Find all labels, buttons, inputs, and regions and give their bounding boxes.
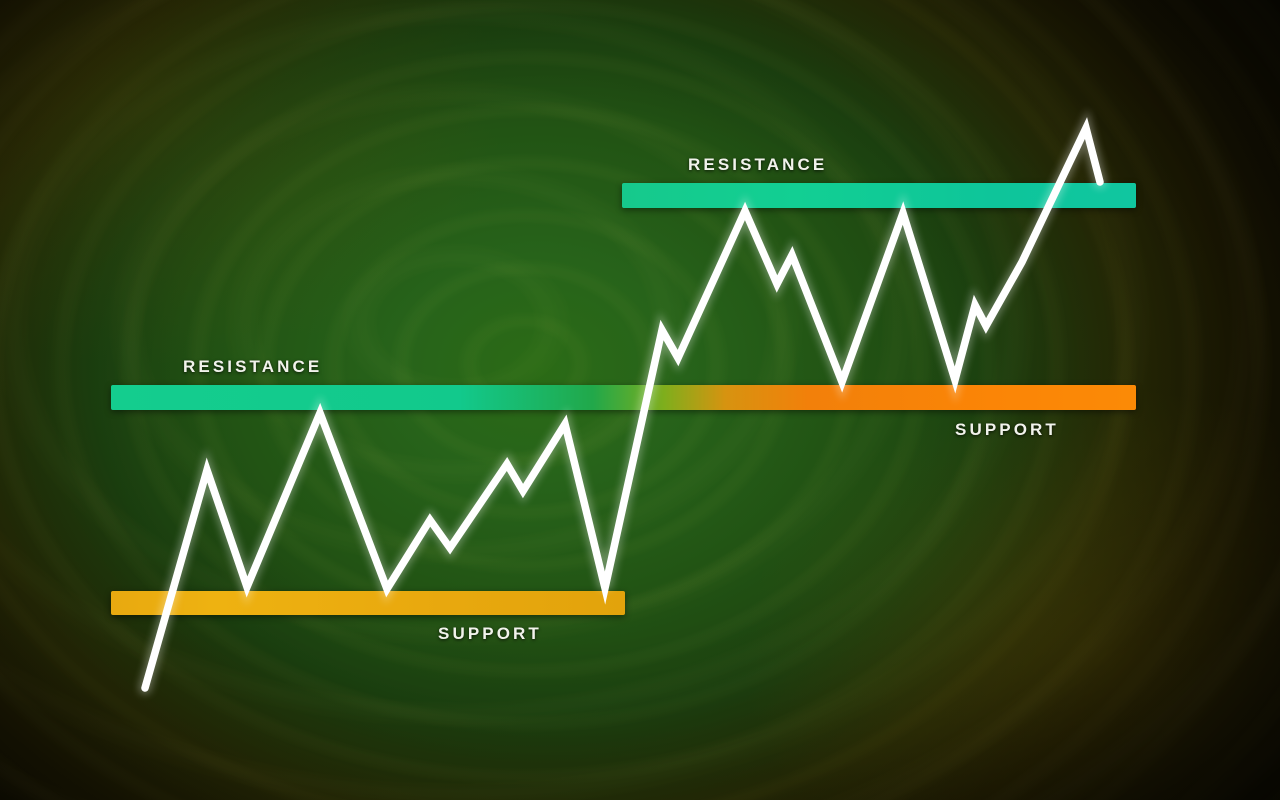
support-zone-bar-bottom <box>111 591 625 615</box>
support-label-mid: SUPPORT <box>955 420 1059 440</box>
chart-canvas: RESISTANCE RESISTANCE SUPPORT SUPPORT <box>0 0 1280 800</box>
resistance-zone-bar-top <box>622 183 1136 208</box>
resistance-label-mid: RESISTANCE <box>183 357 322 377</box>
resistance-label-top: RESISTANCE <box>688 155 827 175</box>
resistance-to-support-zone-bar <box>111 385 1136 410</box>
support-label-bottom: SUPPORT <box>438 624 542 644</box>
